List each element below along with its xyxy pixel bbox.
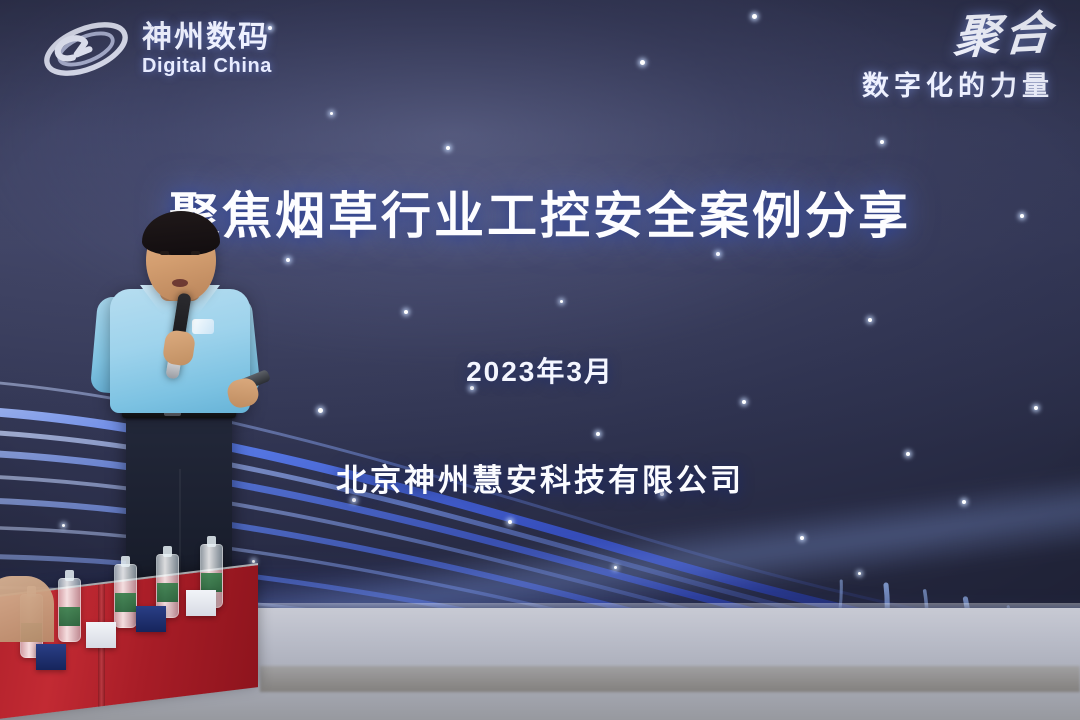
polo-chest-logo-icon [192, 319, 214, 334]
speaker-eye-right [191, 251, 200, 255]
panel-table [0, 560, 260, 720]
water-bottle [58, 578, 81, 642]
seated-attendee [0, 576, 54, 642]
brand-name-en: Digital China [142, 56, 272, 76]
slogan-subtitle: 数字化的力量 [862, 64, 1054, 103]
conference-stage-photo: 神州数码 Digital China 聚合 数字化的力量 聚焦烟草行业工控安全案… [0, 0, 1080, 720]
event-slogan: 聚合 数字化的力量 [862, 16, 1054, 103]
water-bottle [114, 564, 137, 628]
brand-name-cn: 神州数码 [142, 23, 272, 53]
digital-china-brand-lockup: 神州数码 Digital China [40, 18, 272, 80]
slogan-calligraphy: 聚合 [860, 11, 1056, 65]
name-card [136, 606, 166, 632]
name-card [86, 622, 116, 648]
speaker-eye-left [160, 251, 169, 255]
name-card [186, 590, 216, 616]
brand-text: 神州数码 Digital China [142, 23, 272, 76]
name-card [36, 644, 66, 670]
speaker-hair [142, 211, 220, 255]
stage-floor-lip [260, 666, 1080, 692]
speaker-mouth [172, 279, 188, 287]
spiral-galaxy-logo-icon [40, 18, 132, 80]
